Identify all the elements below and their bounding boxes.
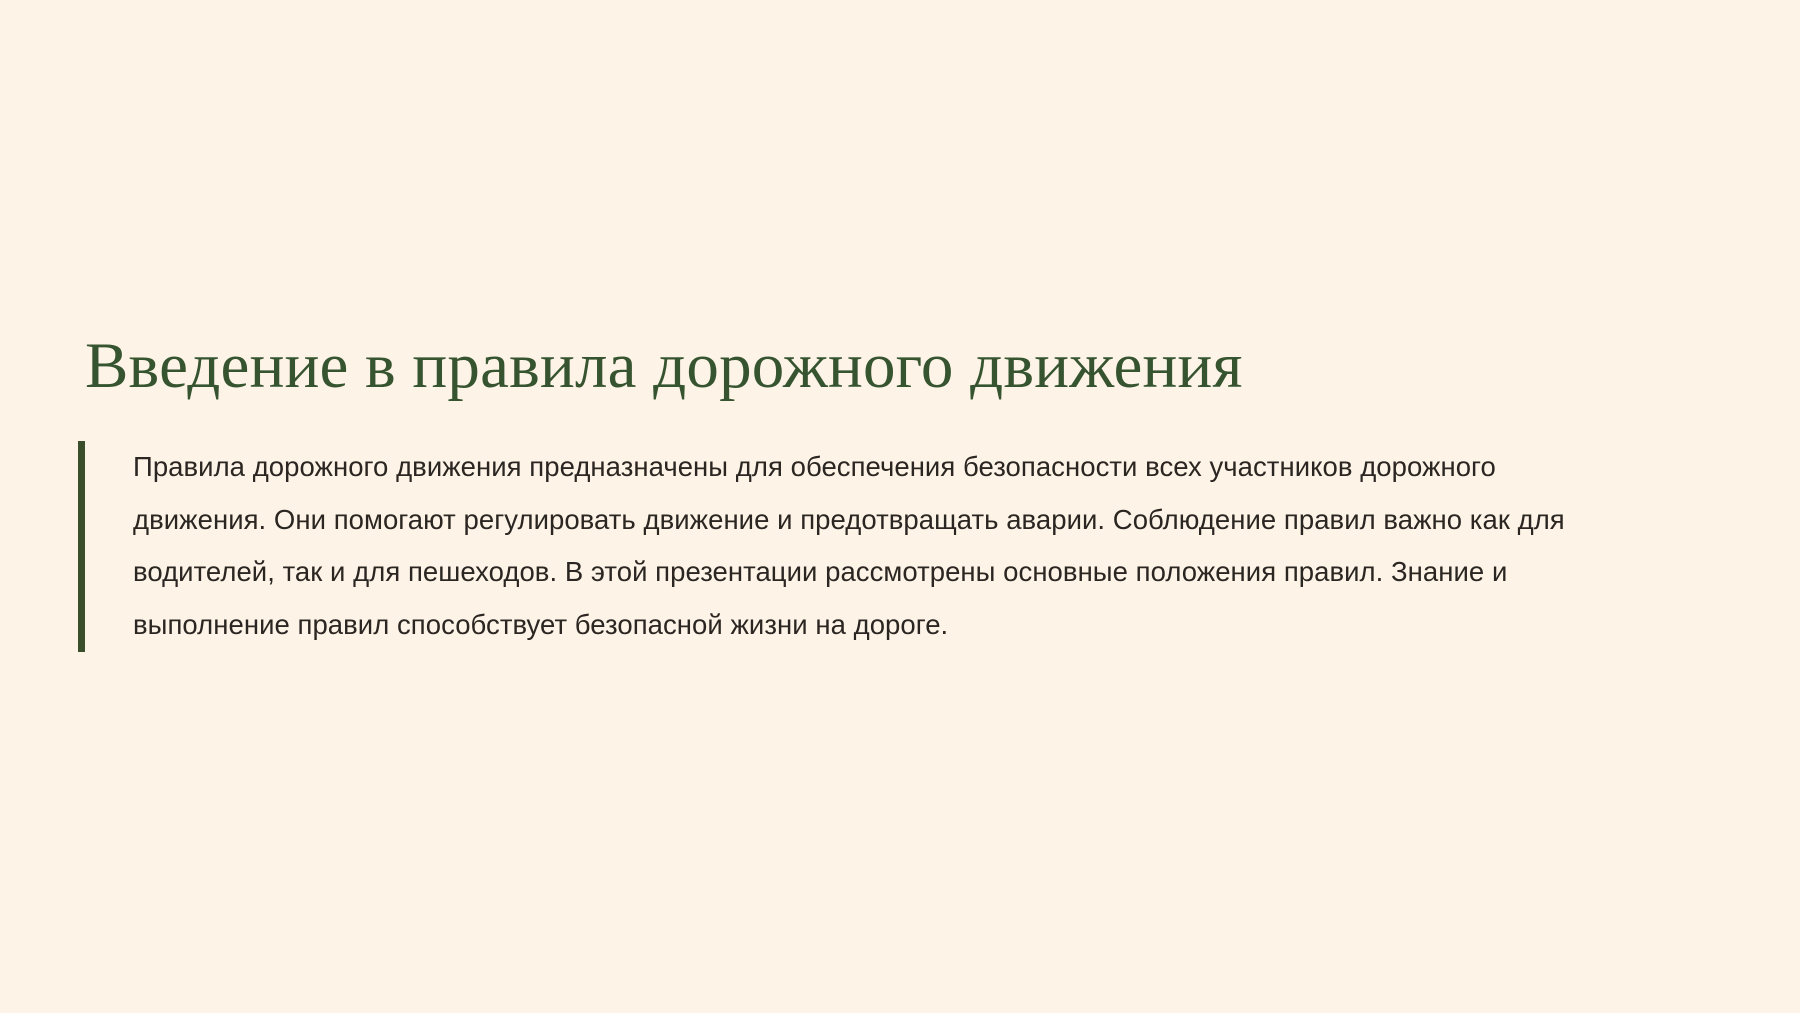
accent-bar (78, 441, 85, 652)
quote-block: Правила дорожного движения предназначены… (78, 441, 1718, 652)
body-text-container: Правила дорожного движения предназначены… (85, 441, 1718, 652)
slide-content: Введение в правила дорожного движения Пр… (78, 330, 1718, 652)
page-title: Введение в правила дорожного движения (78, 330, 1718, 403)
presentation-slide: Введение в правила дорожного движения Пр… (0, 0, 1800, 1013)
body-paragraph: Правила дорожного движения предназначены… (133, 441, 1613, 652)
